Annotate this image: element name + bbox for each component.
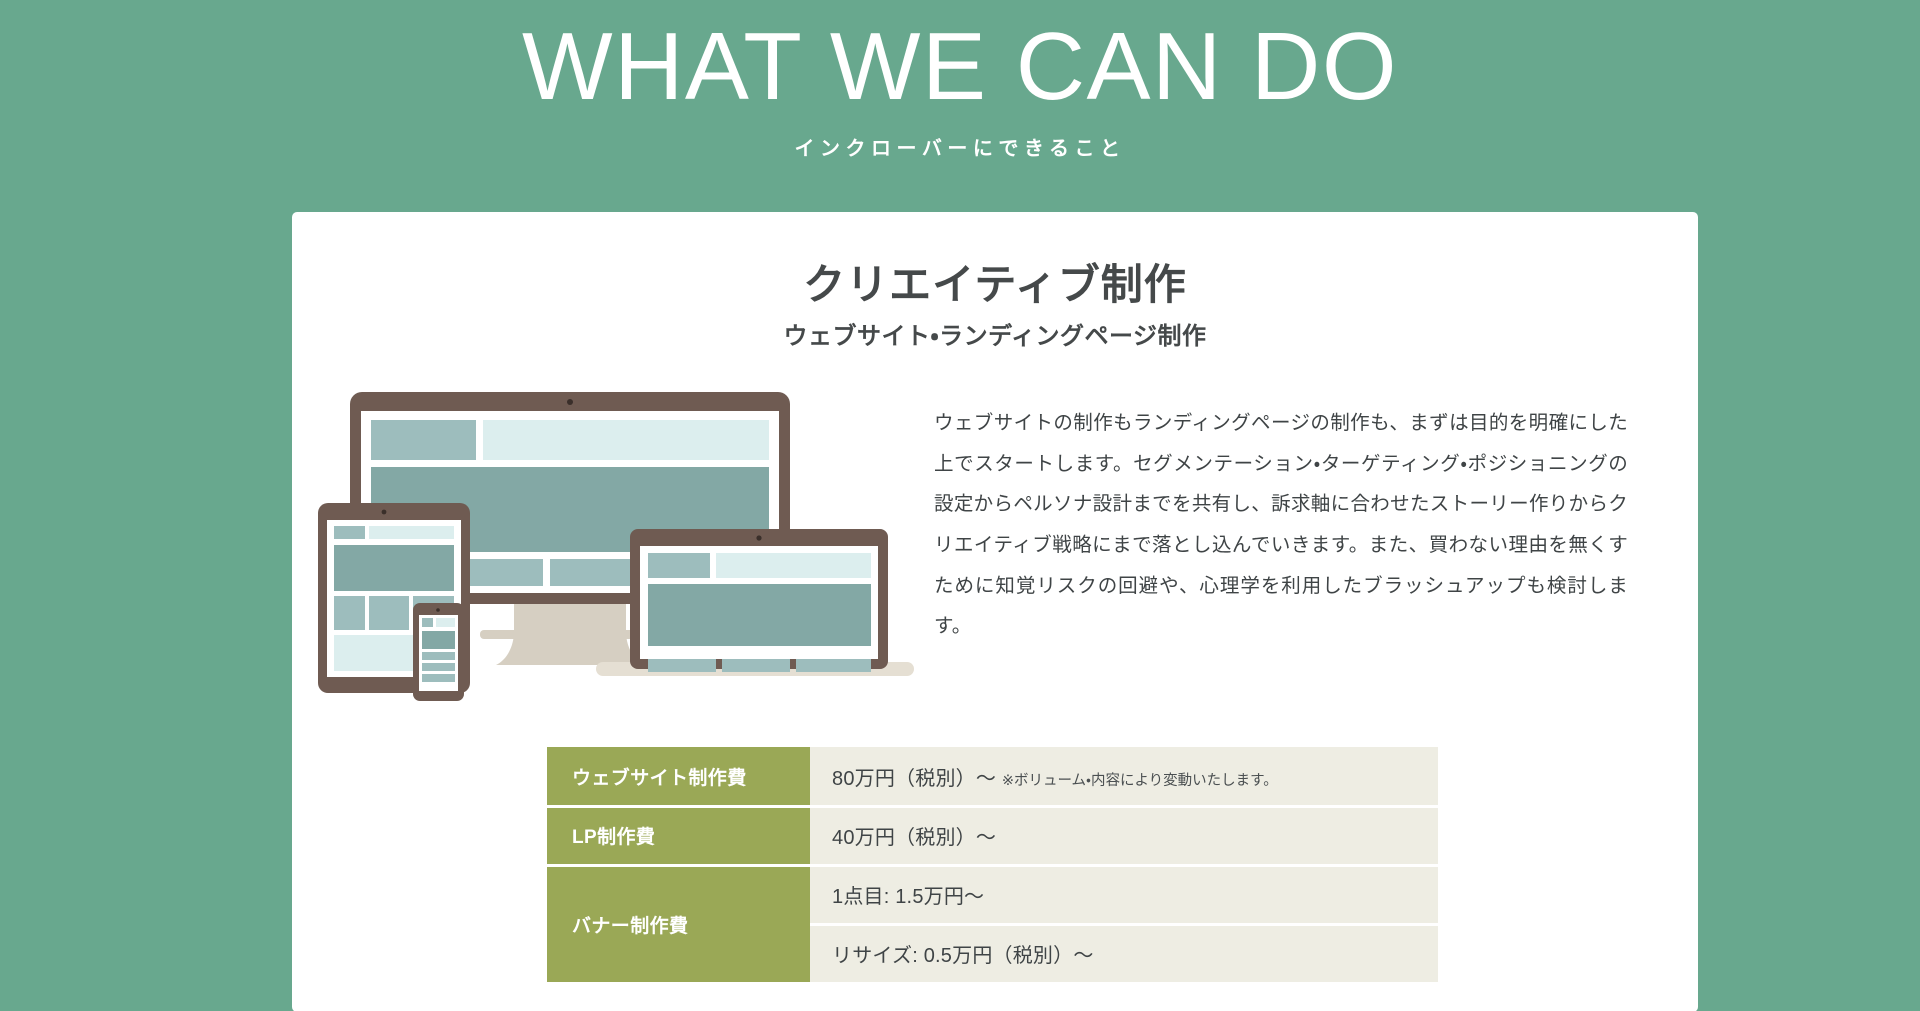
service-title: クリエイティブ制作 [292,260,1698,310]
price-value-banner-first: 1点目: 1.5万円〜 [810,865,1438,924]
page-subtitle: インクローバーにできること [0,132,1920,161]
price-note: ※ボリューム・内容により変動いたします。 [1002,773,1278,789]
price-amount: 80万円（税別）〜 [832,768,996,790]
table-row: ウェブサイト制作費 80万円（税別）〜 ※ボリューム・内容により変動いたします。 [547,747,1438,806]
price-label-website: ウェブサイト制作費 [547,747,810,806]
service-card-header: クリエイティブ制作 ウェブサイト・ランディングページ制作 [292,212,1698,351]
price-value-lp: 40万円（税別）〜 [810,806,1438,865]
price-table-container: ウェブサイト制作費 80万円（税別）〜 ※ボリューム・内容により変動いたします。… [292,747,1698,985]
price-value-website: 80万円（税別）〜 ※ボリューム・内容により変動いたします。 [810,747,1438,806]
table-row: LP制作費 40万円（税別）〜 [547,806,1438,865]
page-root: WHAT WE CAN DO インクローバーにできること クリエイティブ制作 ウ… [0,0,1920,1011]
page-title: WHAT WE CAN DO [0,18,1920,116]
price-label-banner: バナー制作費 [547,865,810,983]
price-value-banner-resize: リサイズ: 0.5万円（税別）〜 [810,924,1438,983]
description-container: ウェブサイトの制作もランディングページの制作も、まずは目的を明確にした上でスター… [914,379,1698,646]
service-subtitle: ウェブサイト・ランディングページ制作 [292,316,1698,351]
price-table: ウェブサイト制作費 80万円（税別）〜 ※ボリューム・内容により変動いたします。… [547,747,1438,985]
service-description: ウェブサイトの制作もランディングページの制作も、まずは目的を明確にした上でスター… [934,403,1628,646]
hero-section: WHAT WE CAN DO インクローバーにできること [0,0,1920,161]
table-row: バナー制作費 1点目: 1.5万円〜 [547,865,1438,924]
price-label-lp: LP制作費 [547,806,810,865]
illustration-container [292,379,914,711]
service-body: ウェブサイトの制作もランディングページの制作も、まずは目的を明確にした上でスター… [292,351,1698,711]
service-card: クリエイティブ制作 ウェブサイト・ランディングページ制作 [292,212,1698,1011]
responsive-devices-illustration [318,381,914,711]
